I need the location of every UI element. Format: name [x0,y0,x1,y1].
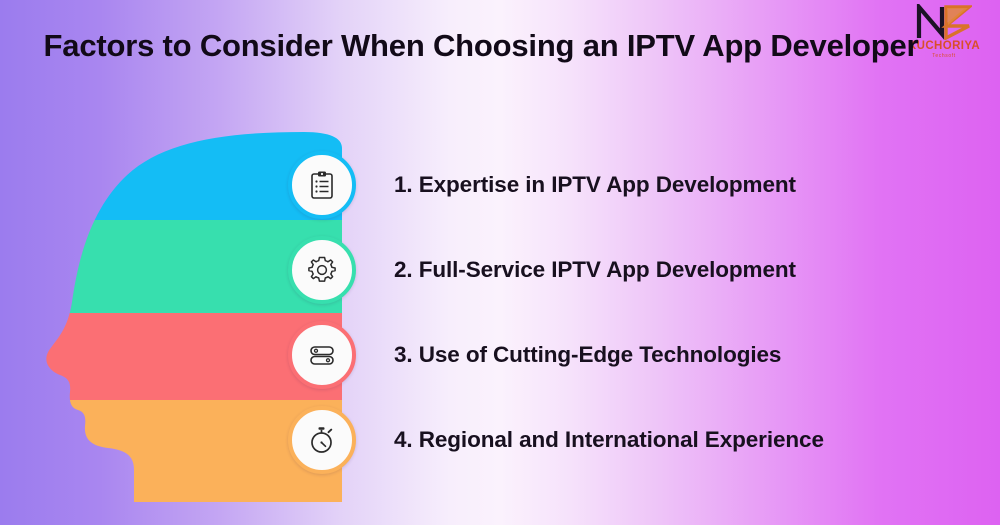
item-icon-badge[interactable] [288,151,356,219]
factors-list: 1. Expertise in IPTV App Development 2. … [288,142,988,482]
clipboard-checklist-icon [306,169,338,201]
list-item[interactable]: 2. Full-Service IPTV App Development [288,227,988,312]
list-item[interactable]: 3. Use of Cutting-Edge Technologies [288,312,988,397]
infographic-canvas: KUCHORIYA Techsoft Factors to Consider W… [0,0,1000,525]
gear-icon [306,254,338,286]
page-title: Factors to Consider When Choosing an IPT… [26,26,936,67]
item-label: 1. Expertise in IPTV App Development [394,172,796,198]
item-label: 2. Full-Service IPTV App Development [394,257,796,283]
item-icon-badge[interactable] [288,321,356,389]
server-stack-icon [306,339,338,371]
list-item[interactable]: 1. Expertise in IPTV App Development [288,142,988,227]
item-label: 3. Use of Cutting-Edge Technologies [394,342,781,368]
stopwatch-icon [306,424,338,456]
list-item[interactable]: 4. Regional and International Experience [288,397,988,482]
item-icon-badge[interactable] [288,236,356,304]
item-label: 4. Regional and International Experience [394,427,824,453]
item-icon-badge[interactable] [288,406,356,474]
